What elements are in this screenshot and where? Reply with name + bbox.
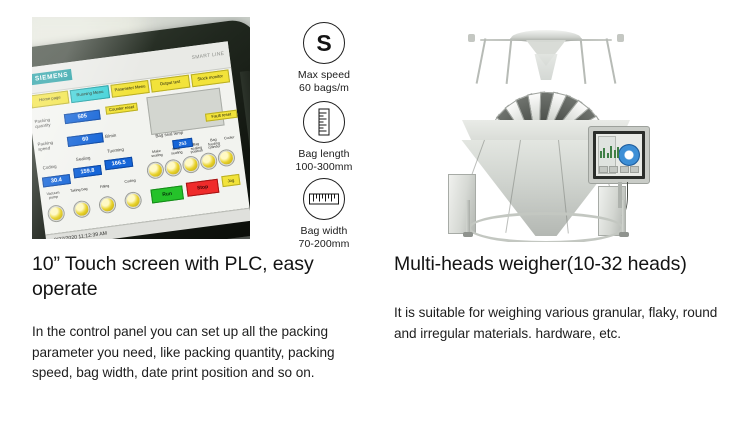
weigher-leg	[466, 200, 470, 234]
weigher-panel-screen	[593, 131, 645, 179]
field-value-coding[interactable]: 30.4	[42, 174, 71, 188]
knob-make-sealing[interactable]	[147, 162, 164, 179]
spec-bag-width: Bag width 70-200mm	[268, 178, 380, 252]
spec-bag-length-line1: Bag length	[268, 148, 380, 161]
field-unit-packing-speed: B/min	[105, 132, 131, 140]
weigher-arm-inner-right	[580, 38, 586, 84]
siemens-logo: SIEMENS	[32, 69, 73, 85]
spec-max-speed-line1: Max speed	[268, 69, 380, 82]
field-label-tuoming: Tuoming	[107, 147, 133, 155]
knob-bag-feeding-cylinder[interactable]	[200, 153, 217, 170]
weigher-panel-bars	[600, 146, 619, 158]
weigher-panel-dial	[618, 144, 640, 166]
weigher-leg	[622, 200, 626, 234]
weigher-base-ring	[468, 212, 624, 242]
horizontal-ruler-icon	[303, 178, 345, 220]
speed-s-icon: S	[303, 22, 345, 64]
field-label-packing-speed: Packing speed	[37, 140, 64, 153]
spec-bag-length: Bag length 100-300mm	[268, 101, 380, 175]
knob-taking-bag[interactable]	[73, 201, 90, 218]
knob-label-heat-sealing: Heat sealing	[167, 147, 186, 156]
knob-label-taking-bag: Taking bag	[70, 188, 88, 194]
knob-label-filling: Filling	[96, 184, 114, 190]
weigher-arm-inner-left	[506, 38, 512, 84]
hmi-graph-panel	[146, 88, 224, 135]
stop-button[interactable]: Stop	[186, 179, 220, 197]
field-value-packing-quantity[interactable]: 505	[64, 110, 101, 125]
weigher-panel-buttons[interactable]	[599, 166, 639, 173]
spec-bag-length-line2: 100-300mm	[268, 161, 380, 174]
right-text-column: Multi-heads weigher(10-32 heads) It is s…	[394, 252, 730, 344]
spec-icon-column: S Max speed 60 bags/m Bag length 100-300…	[268, 22, 380, 242]
field-value-tuoming[interactable]: 166.5	[104, 157, 133, 171]
weigher-arm-right	[606, 38, 616, 83]
knob-label-make-sealing: Make sealing	[147, 149, 166, 158]
knob-label-cooler: Cooler	[220, 136, 238, 142]
jog-button[interactable]: Jog	[221, 174, 240, 187]
knob-cooler[interactable]	[218, 149, 235, 166]
weigher-arm-left	[476, 38, 486, 83]
knob-label-coding: Coding	[121, 179, 139, 185]
knob-label-vacuum-pump: Vacuum pump	[44, 191, 63, 200]
run-button[interactable]: Run	[150, 185, 184, 203]
knob-bag-sealing-position[interactable]	[183, 156, 200, 173]
monitor-bezel: TOUCH SIEMENS SMART LINE Home page Runni…	[32, 17, 250, 239]
knob-vacuum-pump[interactable]	[48, 205, 65, 222]
knob-label-bag-sealing-position: Bag sealing position	[187, 142, 206, 155]
knob-heat-sealing[interactable]	[165, 159, 182, 176]
field-value-packing-speed[interactable]: 60	[67, 132, 104, 147]
field-label-packing-quantity: Packing quantity	[34, 117, 61, 130]
knob-coding[interactable]	[125, 192, 142, 209]
media-row: TOUCH SIEMENS SMART LINE Home page Runni…	[0, 0, 750, 245]
multihead-weigher-photo	[432, 14, 660, 242]
weigher-arm-knob-left	[468, 34, 475, 42]
horizontal-ruler-glyph	[309, 194, 339, 205]
field-label-coding: Coding	[42, 163, 68, 171]
spec-bag-width-line1: Bag width	[268, 225, 380, 238]
left-headline: 10” Touch screen with PLC, easy operate	[32, 252, 352, 302]
vertical-ruler-icon	[303, 101, 345, 143]
spec-max-speed: S Max speed 60 bags/m	[268, 22, 380, 96]
counter-reset-button[interactable]: Counter reset	[105, 103, 138, 116]
weigher-operator-panel[interactable]	[588, 126, 650, 184]
touch-panel-photo: TOUCH SIEMENS SMART LINE Home page Runni…	[32, 17, 250, 239]
spec-max-speed-line2: 60 bags/m	[268, 82, 380, 95]
speed-s-glyph: S	[304, 23, 344, 63]
vertical-ruler-glyph	[319, 109, 330, 136]
field-label-sealing: Sealing	[76, 155, 102, 163]
left-text-column: 10” Touch screen with PLC, easy operate …	[32, 252, 352, 384]
left-body-text: In the control panel you can set up all …	[32, 322, 352, 384]
spec-bag-width-line2: 70-200mm	[268, 238, 380, 251]
weigher-center-cone	[533, 54, 559, 80]
weigher-panel-screen-content	[596, 134, 642, 176]
knob-filling[interactable]	[99, 196, 116, 213]
panel-model-label: SMART LINE	[191, 51, 224, 61]
weigher-foot	[463, 232, 473, 237]
field-value-sealing[interactable]: 159.8	[73, 165, 102, 179]
hmi-screen: SIEMENS SMART LINE Home page Running Men…	[32, 41, 250, 234]
right-headline: Multi-heads weigher(10-32 heads)	[394, 252, 730, 277]
right-body-text: It is suitable for weighing various gran…	[394, 303, 730, 344]
weigher-arm-knob-right	[617, 34, 624, 42]
weigher-foot	[619, 232, 629, 237]
